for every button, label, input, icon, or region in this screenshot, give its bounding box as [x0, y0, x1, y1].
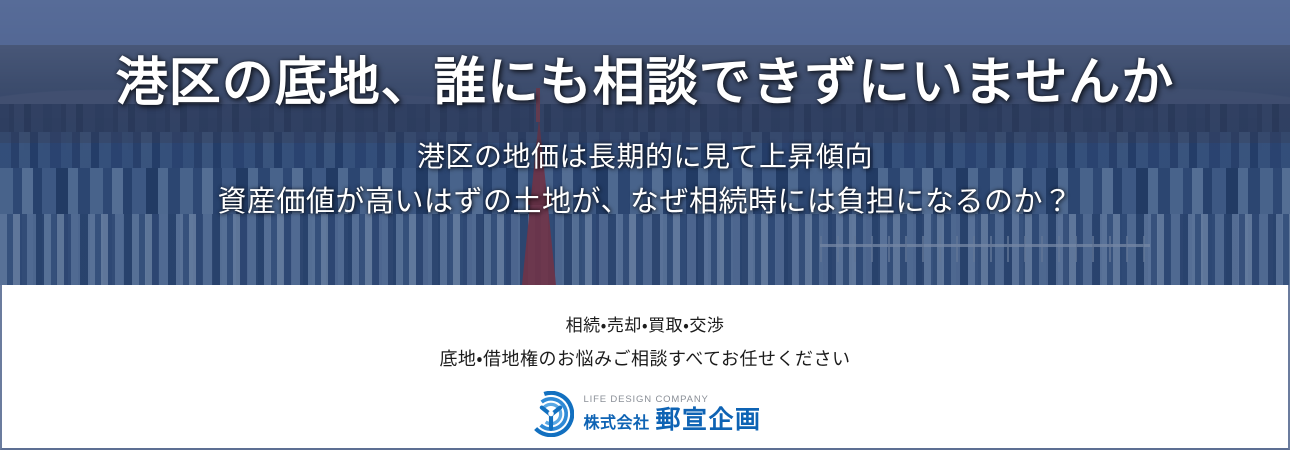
hero-subheadline-group: 港区の地価は長期的に見て上昇傾向 資産価値が高いはずの土地が、なぜ相続時には負担…: [218, 137, 1073, 224]
hero-headline: 港区の底地、誰にも相談できずにいませんか: [116, 56, 1174, 111]
hero-subheadline-line-1: 港区の地価は長期的に見て上昇傾向: [218, 137, 1073, 180]
logo-company-name: 株式会社 郵宣企画: [583, 408, 761, 433]
hero-banner: 港区の底地、誰にも相談できずにいませんか 港区の地価は長期的に見て上昇傾向 資産…: [0, 0, 1290, 450]
yusen-kikaku-logo-mark-icon: [528, 391, 574, 437]
info-panel: 相続・売却・買取・交渉 底地・借地権のお悩みご相談すべてお任せください LIFE…: [0, 285, 1290, 450]
services-line: 相続・売却・買取・交渉: [566, 311, 725, 336]
company-logo[interactable]: LIFE DESIGN COMPANY 株式会社 郵宣企画: [528, 391, 761, 437]
logo-tagline: LIFE DESIGN COMPANY: [583, 395, 761, 405]
logo-entity-label: 株式会社: [583, 416, 649, 432]
logo-text-block: LIFE DESIGN COMPANY 株式会社 郵宣企画: [583, 395, 761, 433]
hero-subheadline-line-2: 資産価値が高いはずの土地が、なぜ相続時には負担になるのか？: [218, 180, 1073, 224]
hero-copy-block: 港区の底地、誰にも相談できずにいませんか 港区の地価は長期的に見て上昇傾向 資産…: [0, 0, 1290, 285]
message-line: 底地・借地権のお悩みご相談すべてお任せください: [439, 345, 850, 371]
logo-company-label: 郵宣企画: [656, 408, 762, 433]
